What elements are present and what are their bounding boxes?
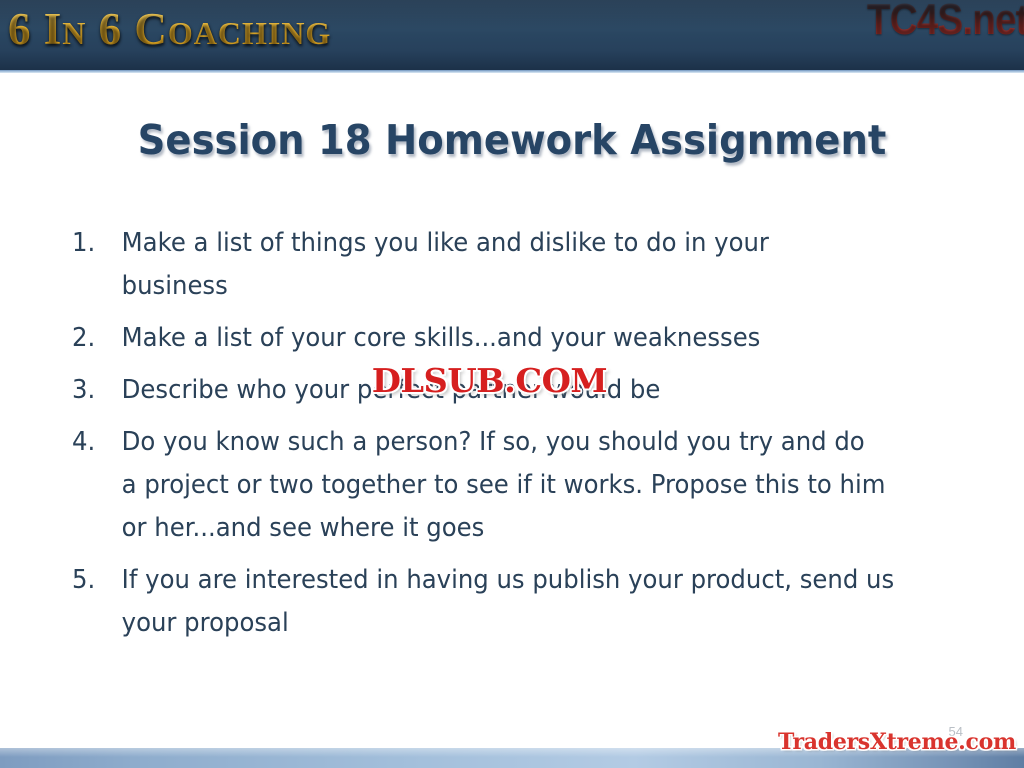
list-item-number: 2. — [72, 317, 122, 360]
brand-logo: 6 In 6 Coaching — [8, 7, 331, 52]
list-item-number: 1. — [72, 222, 122, 265]
list-item-number: 4. — [72, 421, 122, 464]
list-item-text: Make a list of things you like and disli… — [122, 222, 876, 308]
list-item-number: 5. — [72, 559, 122, 602]
list-item-text: Do you know such a person? If so, you sh… — [122, 421, 886, 550]
presentation-slide: 6 In 6 Coaching 6 In 6 Coaching TC4S.net… — [0, 0, 1024, 768]
tc4s-site-logo: TC4S.net — [867, 0, 1024, 42]
list-item: 2. Make a list of your core skills...and… — [72, 317, 912, 360]
homework-task-list: 1. Make a list of things you like and di… — [72, 222, 952, 654]
tradersxtreme-footer-logo: TradersXtreme.com — [778, 729, 1016, 755]
list-item: 4. Do you know such a person? If so, you… — [72, 421, 912, 550]
list-item-number: 3. — [72, 369, 122, 412]
list-item-text: Make a list of your core skills...and yo… — [122, 317, 913, 360]
dlsub-watermark: DLSUB.COM — [372, 361, 607, 400]
list-item: 1. Make a list of things you like and di… — [72, 222, 912, 308]
list-item-text: If you are interested in having us publi… — [122, 559, 905, 645]
list-item: 5. If you are interested in having us pu… — [72, 559, 912, 645]
slide-title: Session 18 Homework Assignment — [31, 116, 994, 164]
header-underline-divider — [0, 70, 1024, 73]
